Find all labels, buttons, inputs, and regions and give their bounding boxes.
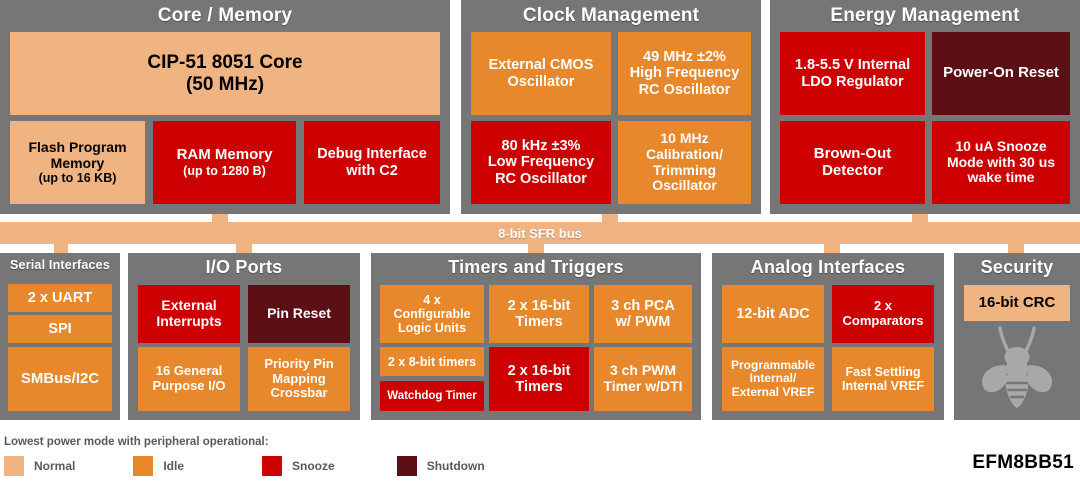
block-line: Power-On Reset	[934, 65, 1068, 82]
block-line: Oscillator	[620, 178, 749, 194]
block-line: Memory	[12, 156, 143, 172]
block-line: with C2	[306, 163, 438, 179]
block-line: (up to 1280 B)	[155, 164, 294, 178]
block-timers-16bit-b[interactable]: 2 x 16-bit Timers	[489, 347, 589, 411]
panel-timers-triggers: Timers and Triggers 4 x Configurable Log…	[371, 253, 701, 420]
block-line: Calibration/	[620, 147, 749, 163]
block-crc-16bit[interactable]: 16-bit CRC	[964, 285, 1070, 321]
block-flash-memory[interactable]: Flash Program Memory (up to 16 KB)	[10, 121, 145, 204]
block-ram-memory[interactable]: RAM Memory (up to 1280 B)	[153, 121, 296, 204]
block-line: w/ PWM	[596, 314, 690, 330]
block-line: Timer w/DTI	[596, 379, 690, 395]
block-line: Pin Reset	[250, 306, 348, 322]
block-line: 10 uA Snooze	[934, 139, 1068, 155]
block-line: Brown-Out	[782, 146, 923, 163]
panel-energy-management: Energy Management 1.8-5.5 V Internal LDO…	[770, 0, 1080, 214]
block-smbus-i2c[interactable]: SMBus/I2C	[8, 347, 112, 411]
block-line: 12-bit ADC	[724, 306, 822, 322]
bee-logo-icon	[979, 325, 1055, 409]
block-line: RC Oscillator	[620, 82, 749, 98]
block-diagram: 8-bit SFR bus Core / Memory CIP-51 8051 …	[0, 0, 1080, 481]
block-line: Priority Pin	[250, 357, 348, 372]
block-line: Internal VREF	[834, 379, 932, 393]
block-configurable-logic-units[interactable]: 4 x Configurable Logic Units	[380, 285, 484, 343]
block-programmable-vref[interactable]: Programmable Internal/ External VREF	[722, 347, 824, 411]
block-line: Programmable	[724, 359, 822, 372]
block-line: RC Oscillator	[473, 171, 609, 187]
panel-title-security: Security	[954, 253, 1080, 278]
block-line: Low Frequency	[473, 154, 609, 170]
block-line: Trimming	[620, 163, 749, 179]
panel-core-memory: Core / Memory CIP-51 8051 Core (50 MHz) …	[0, 0, 450, 214]
block-line: 2 x 16-bit	[491, 363, 587, 379]
block-line: Watchdog Timer	[382, 390, 482, 403]
block-line: CIP-51 8051 Core	[12, 52, 438, 73]
block-line: Comparators	[834, 314, 932, 329]
block-comparators[interactable]: 2 x Comparators	[832, 285, 934, 343]
block-snooze-mode[interactable]: 10 uA Snooze Mode with 30 us wake time	[932, 121, 1070, 204]
block-line: Purpose I/O	[140, 379, 238, 394]
block-power-on-reset[interactable]: Power-On Reset	[932, 32, 1070, 115]
block-priority-crossbar[interactable]: Priority Pin Mapping Crossbar	[248, 347, 350, 411]
block-line: External	[140, 298, 238, 314]
block-line: Flash Program	[12, 140, 143, 156]
panel-security: Security 16-bit CRC	[954, 253, 1080, 420]
legend: Lowest power mode with peripheral operat…	[4, 436, 704, 476]
block-high-frequency-rc-oscillator[interactable]: 49 MHz ±2% High Frequency RC Oscillator	[618, 32, 751, 115]
panel-title-timers-triggers: Timers and Triggers	[371, 253, 701, 278]
panel-title-serial-interfaces: Serial Interfaces	[0, 253, 120, 272]
block-ldo-regulator[interactable]: 1.8-5.5 V Internal LDO Regulator	[780, 32, 925, 115]
block-timers-16bit-a[interactable]: 2 x 16-bit Timers	[489, 285, 589, 343]
block-line: Timers	[491, 314, 587, 330]
panel-title-analog-interfaces: Analog Interfaces	[712, 253, 944, 278]
panel-serial-interfaces: Serial Interfaces 2 x UART SPI SMBus/I2C	[0, 253, 120, 420]
panel-analog-interfaces: Analog Interfaces 12-bit ADC 2 x Compara…	[712, 253, 944, 420]
block-line: 3 ch PCA	[596, 298, 690, 314]
panel-io-ports: I/O Ports External Interrupts Pin Reset …	[128, 253, 360, 420]
block-cip-51-core[interactable]: CIP-51 8051 Core (50 MHz)	[10, 32, 440, 115]
block-pca-pwm[interactable]: 3 ch PCA w/ PWM	[594, 285, 692, 343]
legend-label: Idle	[163, 459, 184, 473]
block-external-cmos-oscillator[interactable]: External CMOS Oscillator	[471, 32, 611, 115]
block-line: Fast Settling	[834, 365, 932, 379]
block-line: LDO Regulator	[782, 74, 923, 90]
block-line: Detector	[782, 163, 923, 180]
block-external-interrupts[interactable]: External Interrupts	[138, 285, 240, 343]
block-line: Mapping	[250, 372, 348, 387]
block-line: 3 ch PWM	[596, 363, 690, 379]
block-line: wake time	[934, 170, 1068, 186]
block-brown-out-detector[interactable]: Brown-Out Detector	[780, 121, 925, 204]
block-adc-12bit[interactable]: 12-bit ADC	[722, 285, 824, 343]
block-line: (50 MHz)	[12, 74, 438, 95]
block-line: SPI	[10, 321, 110, 337]
legend-label: Normal	[34, 459, 75, 473]
block-line: Debug Interface	[306, 146, 438, 162]
panel-title-io-ports: I/O Ports	[128, 253, 360, 278]
block-line: Crossbar	[250, 386, 348, 401]
block-pwm-timer-dti[interactable]: 3 ch PWM Timer w/DTI	[594, 347, 692, 411]
panel-title-energy-management: Energy Management	[770, 0, 1080, 27]
legend-item-snooze: Snooze	[262, 456, 335, 476]
block-pin-reset[interactable]: Pin Reset	[248, 285, 350, 343]
block-line: 2 x UART	[10, 290, 110, 306]
block-line: 16-bit CRC	[966, 295, 1068, 312]
block-fast-settling-vref[interactable]: Fast Settling Internal VREF	[832, 347, 934, 411]
block-timers-8bit[interactable]: 2 x 8-bit timers	[380, 347, 484, 376]
block-line: 2 x 8-bit timers	[382, 355, 482, 369]
block-line: High Frequency	[620, 65, 749, 81]
block-spi[interactable]: SPI	[8, 315, 112, 343]
block-line: Oscillator	[473, 74, 609, 90]
legend-items: Normal Idle Snooze Shutdown	[4, 456, 704, 476]
legend-swatch-shutdown	[397, 456, 417, 476]
block-line: Internal/	[724, 372, 822, 385]
legend-swatch-idle	[133, 456, 153, 476]
block-line: 10 MHz	[620, 131, 749, 147]
legend-swatch-normal	[4, 456, 24, 476]
part-number: EFM8BB51	[972, 452, 1074, 474]
block-line: (up to 16 KB)	[12, 171, 143, 185]
legend-label: Shutdown	[427, 459, 485, 473]
block-line: External CMOS	[473, 57, 609, 73]
block-line: Configurable	[382, 307, 482, 321]
block-general-purpose-io[interactable]: 16 General Purpose I/O	[138, 347, 240, 411]
block-line: 1.8-5.5 V Internal	[782, 57, 923, 73]
block-watchdog-timer[interactable]: Watchdog Timer	[380, 381, 484, 411]
block-line: SMBus/I2C	[10, 371, 110, 388]
panel-clock-management: Clock Management External CMOS Oscillato…	[461, 0, 761, 214]
block-line: External VREF	[724, 386, 822, 399]
block-line: Interrupts	[140, 314, 238, 330]
block-line: 2 x	[834, 299, 932, 314]
legend-item-idle: Idle	[133, 456, 184, 476]
legend-item-normal: Normal	[4, 456, 75, 476]
legend-label: Snooze	[292, 459, 335, 473]
block-line: RAM Memory	[155, 147, 294, 164]
legend-item-shutdown: Shutdown	[397, 456, 485, 476]
block-uart[interactable]: 2 x UART	[8, 284, 112, 312]
block-line: Logic Units	[382, 321, 482, 335]
legend-swatch-snooze	[262, 456, 282, 476]
block-line: 16 General	[140, 364, 238, 379]
panel-title-core-memory: Core / Memory	[0, 0, 450, 27]
block-low-frequency-rc-oscillator[interactable]: 80 kHz ±3% Low Frequency RC Oscillator	[471, 121, 611, 204]
panel-title-clock-management: Clock Management	[461, 0, 761, 27]
legend-title: Lowest power mode with peripheral operat…	[4, 436, 704, 448]
block-debug-interface[interactable]: Debug Interface with C2	[304, 121, 440, 204]
block-line: Mode with 30 us	[934, 155, 1068, 171]
block-line: 49 MHz ±2%	[620, 49, 749, 65]
block-line: 4 x	[382, 293, 482, 307]
block-line: 80 kHz ±3%	[473, 138, 609, 154]
block-line: 2 x 16-bit	[491, 298, 587, 314]
block-line: Timers	[491, 379, 587, 395]
block-calibration-trimming-oscillator[interactable]: 10 MHz Calibration/ Trimming Oscillator	[618, 121, 751, 204]
